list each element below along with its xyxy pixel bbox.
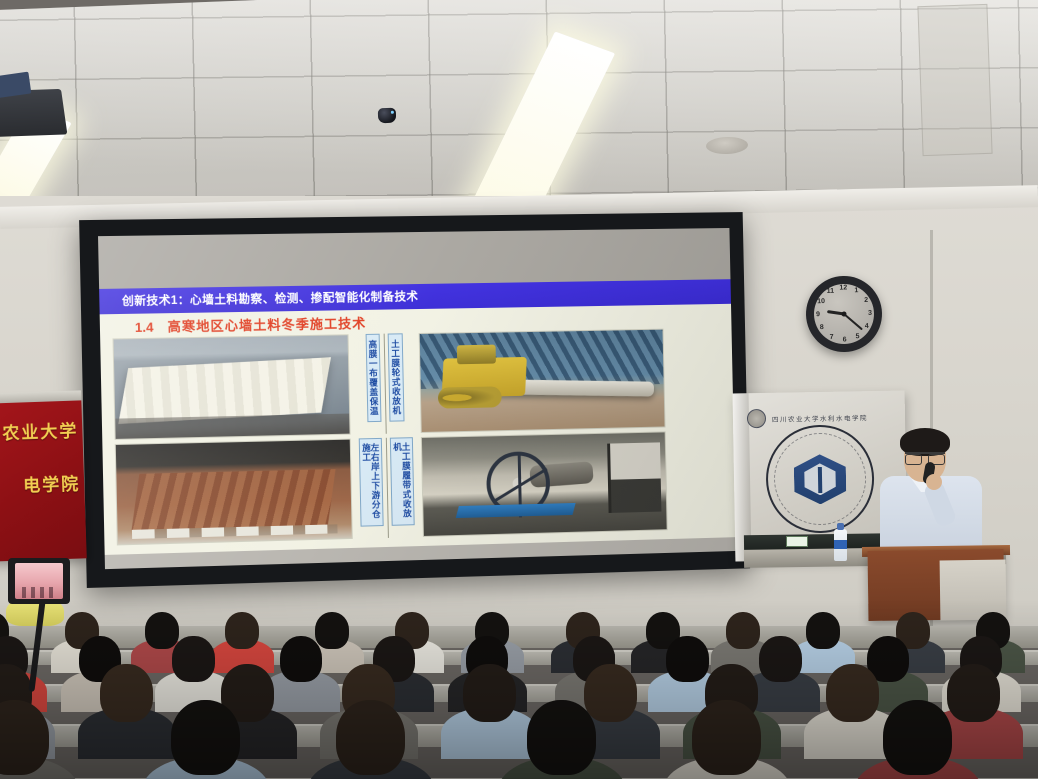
- slide-section-title: 高寒地区心墙土料冬季施工技术: [167, 316, 366, 335]
- audience-member-head: [726, 612, 760, 649]
- audience-member-head: [463, 664, 516, 722]
- clock-numeral: 1: [854, 288, 858, 295]
- audience-member-head: [826, 664, 879, 722]
- university-logo-icon: [747, 409, 766, 428]
- phone-screen[interactable]: [15, 563, 63, 599]
- audience-member-head: [336, 700, 405, 775]
- red-banner-line-2: 电学院: [0, 475, 81, 497]
- clock-numeral: 5: [856, 333, 860, 340]
- red-university-banner: 农业大学 电学院: [0, 396, 87, 561]
- red-banner-line-1: 农业大学: [0, 422, 79, 444]
- audience-member-head: [692, 700, 761, 775]
- audience-member-head: [172, 636, 214, 682]
- eyeglasses-icon: [905, 452, 945, 461]
- audience-member-head: [759, 636, 801, 682]
- clock-center-pin: [841, 311, 846, 316]
- university-seal-icon: [765, 424, 875, 534]
- projection-screen[interactable]: 创新技术1：心墙土料勘察、检测、掺配智能化制备技术 1.4 高寒地区心墙土料冬季…: [79, 212, 750, 588]
- clock-numeral: 8: [820, 324, 824, 331]
- slide-content-area: 1.4 高寒地区心墙土料冬季施工技术 高膜一布覆盖保温 土工膜轮式收放机: [100, 304, 736, 555]
- clock-numeral: 9: [816, 311, 820, 318]
- dozer-cab: [457, 344, 497, 364]
- figure-label-top-left: 高膜一布覆盖保温: [365, 334, 381, 422]
- audience-member-head: [315, 612, 349, 649]
- audience-member-head: [225, 612, 259, 649]
- audience-member-head: [171, 700, 240, 775]
- banner-top-fold: [0, 390, 81, 403]
- clock-numeral: 2: [864, 297, 868, 304]
- audience-member-head: [584, 664, 637, 722]
- clock-face: 121234567891011: [813, 283, 875, 345]
- presenter-hand: [926, 474, 942, 490]
- audience-member-head: [100, 664, 153, 722]
- audience-member-head: [666, 636, 708, 682]
- clock-numeral: 10: [817, 298, 825, 305]
- clock-numeral: 7: [830, 333, 834, 340]
- ceiling-camera-icon: [378, 108, 397, 124]
- figure-label-top-right: 土工膜轮式收放机: [388, 333, 404, 421]
- excavator-cab: [607, 442, 661, 513]
- banner-top-text: 四川农业大学水利水电学院: [772, 412, 868, 424]
- grid-divider-vertical: [384, 334, 387, 434]
- air-vent-icon: [917, 4, 992, 156]
- presentation-slide: 创新技术1：心墙土料勘察、检测、掺配智能化制备技术 1.4 高寒地区心墙土料冬季…: [98, 228, 736, 569]
- figure-aerial-core-placement: [115, 439, 353, 546]
- presenter: [874, 432, 986, 554]
- clock-numeral: 6: [843, 336, 847, 343]
- lecture-hall-photo: 创新技术1：心墙土料勘察、检测、掺配智能化制备技术 1.4 高寒地区心墙土料冬季…: [0, 0, 1038, 779]
- label-column-top: 高膜一布覆盖保温 土工膜轮式收放机: [348, 333, 420, 435]
- figure-membrane-cover: [113, 334, 351, 440]
- clock-numeral: 12: [839, 284, 847, 291]
- audience-member-head: [947, 664, 1000, 722]
- clock-numeral: 11: [827, 288, 835, 295]
- slide-figure-grid: 高膜一布覆盖保温 土工膜轮式收放机 左右岸上下游分仓施工: [110, 328, 727, 546]
- audience-member-head: [806, 612, 840, 649]
- figure-label-bottom-right: 土工膜履带式收放机: [390, 437, 415, 526]
- audience-member-head: [883, 700, 952, 775]
- phone-clamp: [8, 558, 70, 604]
- label-column-bottom: 左右岸上下游分仓施工 土工膜履带式收放机: [351, 437, 423, 539]
- clock-minute-hand: [843, 313, 863, 330]
- grid-divider-vertical: [386, 438, 389, 538]
- smartphone-on-tripod[interactable]: [8, 558, 72, 688]
- audience-member-head: [280, 636, 322, 682]
- figure-label-bottom-left: 左右岸上下游分仓施工: [359, 438, 384, 527]
- reel-frame-base: [456, 503, 576, 518]
- figure-dozer-laying-membrane: [419, 329, 666, 433]
- figure-reel-winder: [421, 431, 668, 537]
- chalk-box-icon: [786, 536, 808, 547]
- tripod-pole: [28, 600, 45, 692]
- water-bottle-icon: [834, 529, 847, 561]
- audience-member-head: [527, 700, 596, 775]
- clock-numeral: 3: [868, 310, 872, 317]
- dozer-track: [438, 386, 502, 409]
- slide-section-number: 1.4: [135, 320, 154, 336]
- audience-member-head: [145, 612, 179, 649]
- clock-numeral: 4: [865, 323, 869, 330]
